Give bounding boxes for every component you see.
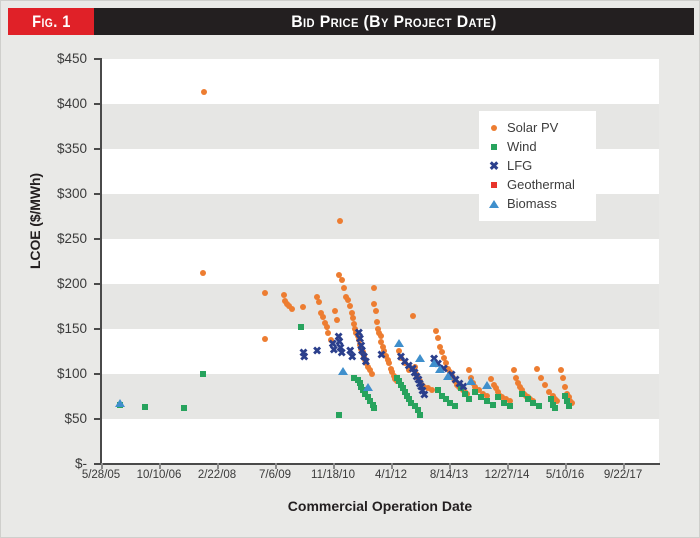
x-axis-tick-label: 11/18/10	[311, 469, 355, 481]
data-point-biomass	[415, 354, 425, 362]
legend-item-biomass[interactable]: Biomass	[488, 194, 587, 213]
legend-item-label: Geothermal	[507, 177, 575, 192]
data-point-solar-pv	[406, 367, 412, 373]
data-point-solar-pv	[445, 366, 451, 372]
data-point-solar-pv	[339, 277, 345, 283]
data-point-lfg	[361, 359, 370, 368]
legend-item-label: Solar PV	[507, 120, 558, 135]
y-axis-tick-label: $200	[31, 276, 87, 291]
y-axis-tick	[94, 58, 101, 60]
y-axis-tick-label: $150	[31, 321, 87, 336]
data-point-lfg	[357, 343, 366, 352]
data-point-lfg	[377, 352, 386, 361]
figure-number-label: Fig. 1	[32, 12, 71, 32]
data-point-lfg	[313, 348, 322, 357]
data-point-lfg	[329, 346, 338, 355]
data-point-solar-pv	[437, 344, 443, 350]
data-point-lfg	[348, 353, 357, 362]
data-point-lfg	[336, 344, 345, 353]
data-point-solar-pv	[383, 353, 389, 359]
y-axis-tick-label: $50	[31, 411, 87, 426]
data-point-lfg	[337, 350, 346, 359]
legend-item-label: Biomass	[507, 196, 557, 211]
data-point-lfg	[355, 335, 364, 344]
legend-item-label: LFG	[507, 158, 532, 173]
y-axis-tick-label: $250	[31, 231, 87, 246]
data-point-lfg	[335, 339, 344, 348]
data-point-solar-pv	[325, 330, 331, 336]
legend-marker-icon: ✖	[488, 160, 500, 172]
legend-item-geothermal[interactable]: Geothermal	[488, 175, 587, 194]
data-point-solar-pv	[362, 357, 368, 363]
x-axis-tick-label: 10/10/06	[137, 469, 182, 481]
legend-item-label: Wind	[507, 139, 537, 154]
data-point-solar-pv	[328, 337, 334, 343]
data-point-solar-pv	[363, 360, 369, 366]
data-point-solar-pv	[396, 348, 402, 354]
data-point-biomass	[429, 359, 439, 367]
y-axis-title: LCOE ($/MWh)	[27, 151, 43, 291]
data-point-solar-pv	[386, 360, 392, 366]
data-point-lfg	[357, 348, 366, 357]
y-axis-line	[100, 58, 102, 465]
data-point-solar-pv	[534, 366, 540, 372]
data-point-lfg	[354, 330, 363, 339]
data-point-lfg	[299, 350, 308, 359]
data-point-solar-pv	[402, 360, 408, 366]
legend-marker-icon	[488, 144, 500, 150]
data-point-solar-pv	[466, 367, 472, 373]
x-axis-tick-label: 4/1/12	[375, 469, 407, 481]
data-point-solar-pv	[365, 364, 371, 370]
data-point-solar-pv	[441, 355, 447, 361]
y-axis-tick	[94, 283, 101, 285]
data-point-solar-pv	[439, 349, 445, 355]
data-point-lfg	[396, 353, 405, 362]
data-point-lfg	[300, 353, 309, 362]
data-point-solar-pv	[378, 339, 384, 345]
chart-legend: Solar PVWind✖LFGGeothermalBiomass	[479, 111, 596, 221]
x-axis-tick-label: 12/27/14	[485, 469, 530, 481]
y-axis-tick-label: $300	[31, 186, 87, 201]
plot-band	[101, 284, 659, 329]
x-axis-title: Commercial Operation Date	[101, 498, 659, 514]
plot-band	[101, 374, 659, 419]
y-axis-tick	[94, 373, 101, 375]
data-point-solar-pv	[357, 342, 363, 348]
data-point-solar-pv	[356, 337, 362, 343]
data-point-solar-pv	[385, 357, 391, 363]
legend-item-wind[interactable]: Wind	[488, 137, 587, 156]
figure-container: Fig. 1 Bid Price (By Project Date) LCOE …	[0, 0, 700, 538]
x-axis-tick-label: 5/28/05	[82, 469, 120, 481]
data-point-solar-pv	[376, 330, 382, 336]
data-point-solar-pv	[380, 344, 386, 350]
data-point-lfg	[433, 361, 442, 370]
x-axis-tick-label: 5/10/16	[546, 469, 584, 481]
legend-item-lfg[interactable]: ✖LFG	[488, 156, 587, 175]
data-point-lfg	[359, 353, 368, 362]
data-point-solar-pv	[200, 270, 206, 276]
data-point-solar-pv	[361, 353, 367, 359]
y-axis-tick	[94, 463, 101, 465]
data-point-solar-pv	[378, 333, 384, 339]
data-point-lfg	[430, 355, 439, 364]
data-point-solar-pv	[201, 89, 207, 95]
data-point-solar-pv	[355, 333, 361, 339]
legend-marker-icon	[488, 125, 500, 131]
data-point-lfg	[400, 359, 409, 368]
legend-item-solar-pv[interactable]: Solar PV	[488, 118, 587, 137]
figure-title: Bid Price (By Project Date)	[115, 8, 673, 35]
data-point-lfg	[346, 348, 355, 357]
data-point-lfg	[328, 341, 337, 350]
data-point-solar-pv	[360, 349, 366, 355]
data-point-solar-pv	[358, 346, 364, 352]
y-axis-tick-label: $350	[31, 141, 87, 156]
x-axis-tick-label: 8/14/13	[430, 469, 468, 481]
data-point-solar-pv	[511, 367, 517, 373]
x-axis-line	[100, 463, 660, 465]
y-axis-tick-label: $400	[31, 96, 87, 111]
data-point-solar-pv	[443, 360, 449, 366]
data-point-solar-pv	[388, 366, 394, 372]
y-axis-tick-label: $450	[31, 51, 87, 66]
y-axis-tick	[94, 328, 101, 330]
data-point-solar-pv	[353, 330, 359, 336]
y-axis-tick	[94, 193, 101, 195]
y-axis-tick	[94, 103, 101, 105]
data-point-solar-pv	[435, 335, 441, 341]
legend-marker-icon	[488, 200, 500, 208]
data-point-solar-pv	[262, 336, 268, 342]
y-axis-tick	[94, 238, 101, 240]
data-point-solar-pv	[367, 367, 373, 373]
data-point-solar-pv	[558, 367, 564, 373]
data-point-solar-pv	[412, 364, 418, 370]
x-axis-tick-label: 2/22/08	[198, 469, 236, 481]
y-axis-tick	[94, 418, 101, 420]
figure-header-bar: Fig. 1 Bid Price (By Project Date)	[8, 8, 694, 35]
data-point-lfg	[404, 362, 413, 371]
y-axis-tick-label: $100	[31, 366, 87, 381]
data-point-solar-pv	[398, 355, 404, 361]
y-axis-tick	[94, 148, 101, 150]
data-point-solar-pv	[381, 348, 387, 354]
legend-marker-icon	[488, 182, 500, 188]
data-point-biomass	[394, 339, 404, 347]
x-axis-tick-label: 9/22/17	[604, 469, 642, 481]
x-axis-tick-label: 7/6/09	[259, 469, 291, 481]
y-axis-tick-label: $-	[31, 456, 87, 471]
data-point-biomass	[435, 365, 445, 373]
data-point-lfg	[334, 334, 343, 343]
figure-number-badge: Fig. 1	[8, 8, 94, 35]
data-point-solar-pv	[336, 272, 342, 278]
